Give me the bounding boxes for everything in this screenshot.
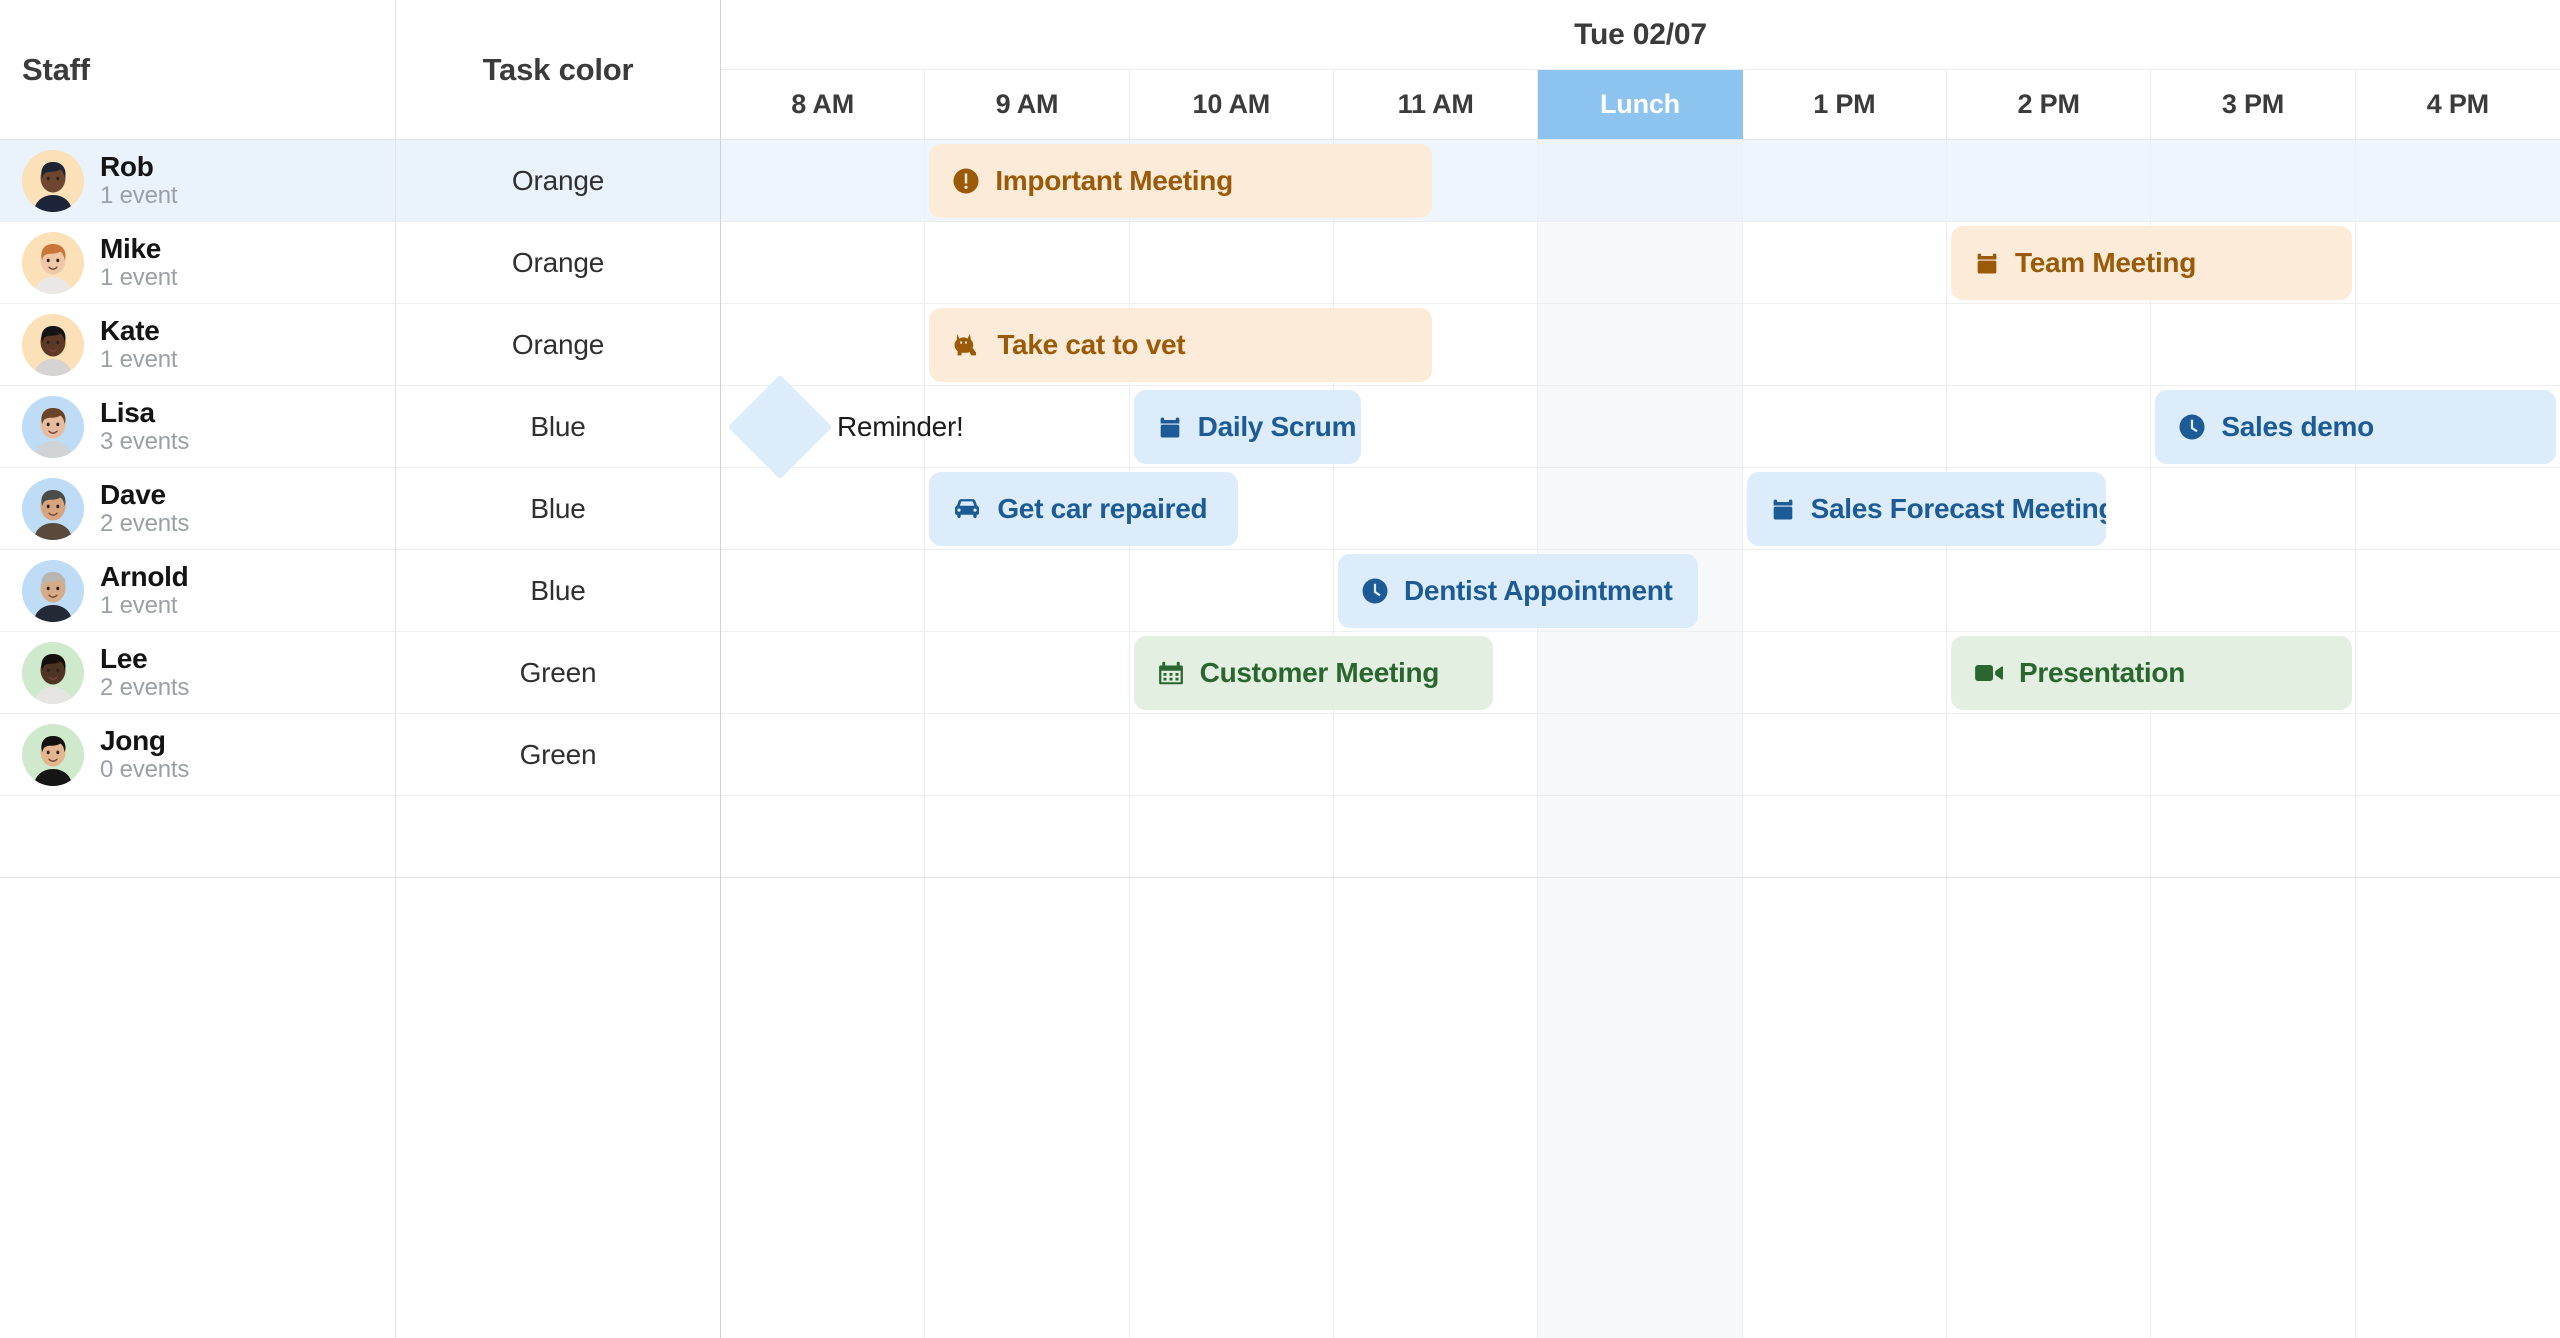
milestone-reminder[interactable]: Reminder! xyxy=(743,390,963,464)
staff-name: Mike xyxy=(100,234,177,263)
staff-name: Arnold xyxy=(100,562,188,591)
task-color-cell-jong[interactable]: Green xyxy=(396,714,720,796)
calendar-icon xyxy=(1156,412,1184,442)
staff-event-count: 1 event xyxy=(100,593,188,619)
car-icon xyxy=(951,495,983,523)
event-title: Presentation xyxy=(2019,657,2185,689)
staff-event-count: 3 events xyxy=(100,429,189,455)
time-slot-10-am[interactable]: 10 AM xyxy=(1130,70,1334,139)
time-slot-4-pm[interactable]: 4 PM xyxy=(2356,70,2560,139)
time-slot-2-pm[interactable]: 2 PM xyxy=(1947,70,2151,139)
staff-info: Arnold1 event xyxy=(100,562,188,620)
date-header-label: Tue 02/07 xyxy=(1574,18,1707,52)
avatar-rob xyxy=(22,150,84,212)
avatar-mike xyxy=(22,232,84,294)
time-slot-9-am[interactable]: 9 AM xyxy=(925,70,1129,139)
time-slot-label: 11 AM xyxy=(1398,89,1474,120)
staff-name: Dave xyxy=(100,480,189,509)
staff-row-rob[interactable]: Rob1 event xyxy=(0,140,395,222)
staff-row-lee[interactable]: Lee2 events xyxy=(0,632,395,714)
task-color-column: OrangeOrangeOrangeBlueBlueBlueGreenGreen xyxy=(396,140,721,1338)
avatar-lisa xyxy=(22,396,84,458)
staff-name: Rob xyxy=(100,152,177,181)
event-chip-sales-forecast-meeting[interactable]: Sales Forecast Meeting xyxy=(1747,472,2107,546)
task-color-label: Orange xyxy=(512,329,604,361)
diamond-milestone-icon xyxy=(728,375,833,480)
event-title: Important Meeting xyxy=(995,165,1233,197)
staff-event-count: 2 events xyxy=(100,511,189,537)
event-chip-customer-meeting[interactable]: Customer Meeting xyxy=(1134,636,1494,710)
staff-event-count: 1 event xyxy=(100,183,177,209)
time-slot-3-pm[interactable]: 3 PM xyxy=(2151,70,2355,139)
video-camera-icon xyxy=(1973,660,2005,686)
calendar-grid-icon xyxy=(1156,658,1186,688)
event-chip-team-meeting[interactable]: Team Meeting xyxy=(1951,226,2352,300)
alert-circle-icon xyxy=(951,166,981,196)
staff-name: Lisa xyxy=(100,398,189,427)
staff-row-mike[interactable]: Mike1 event xyxy=(0,222,395,304)
task-color-cell-rob[interactable]: Orange xyxy=(396,140,720,222)
calendar-icon xyxy=(1769,494,1797,524)
staff-column: Rob1 eventMike1 eventKate1 eventLisa3 ev… xyxy=(0,140,396,1338)
event-chip-presentation[interactable]: Presentation xyxy=(1951,636,2352,710)
task-color-label: Blue xyxy=(530,493,585,525)
time-slot-label: 1 PM xyxy=(1813,89,1875,120)
staff-info: Lee2 events xyxy=(100,644,189,702)
event-title: Daily Scrum xyxy=(1198,411,1357,443)
time-slot-label: 10 AM xyxy=(1193,89,1271,120)
avatar-arnold xyxy=(22,560,84,622)
clock-icon xyxy=(2177,412,2207,442)
event-title: Sales demo xyxy=(2221,411,2374,443)
staff-info: Mike1 event xyxy=(100,234,177,292)
event-title: Get car repaired xyxy=(997,493,1207,525)
avatar-jong xyxy=(22,724,84,786)
staff-name: Lee xyxy=(100,644,189,673)
task-color-cell-lisa[interactable]: Blue xyxy=(396,386,720,468)
time-slot-label: 9 AM xyxy=(996,89,1059,120)
event-chip-important-meeting[interactable]: Important Meeting xyxy=(929,144,1432,218)
event-title: Team Meeting xyxy=(2015,247,2196,279)
staff-column-header-label: Staff xyxy=(22,52,90,88)
avatar-dave xyxy=(22,478,84,540)
task-color-cell-dave[interactable]: Blue xyxy=(396,468,720,550)
staff-row-jong[interactable]: Jong0 events xyxy=(0,714,395,796)
staff-name: Jong xyxy=(100,726,189,755)
task-color-label: Orange xyxy=(512,247,604,279)
staff-info: Jong0 events xyxy=(100,726,189,784)
date-header: Tue 02/07 xyxy=(721,0,2560,70)
timeline-body[interactable]: Important MeetingTeam MeetingTake cat to… xyxy=(721,140,2560,1338)
staff-row-arnold[interactable]: Arnold1 event xyxy=(0,550,395,632)
calendar-icon xyxy=(1973,248,2001,278)
avatar-kate xyxy=(22,314,84,376)
cat-icon xyxy=(951,331,983,359)
task-color-label: Green xyxy=(520,739,597,771)
staff-event-count: 1 event xyxy=(100,265,177,291)
event-chip-get-car-repaired[interactable]: Get car repaired xyxy=(929,472,1238,546)
time-slot-8-am[interactable]: 8 AM xyxy=(721,70,925,139)
event-chip-sales-demo[interactable]: Sales demo xyxy=(2155,390,2556,464)
event-chip-take-cat-to-vet[interactable]: Take cat to vet xyxy=(929,308,1432,382)
task-color-label: Orange xyxy=(512,165,604,197)
task-color-cell-arnold[interactable]: Blue xyxy=(396,550,720,632)
time-slot-label: 8 AM xyxy=(791,89,854,120)
staff-column-header: Staff xyxy=(0,0,396,140)
staff-row-lisa[interactable]: Lisa3 events xyxy=(0,386,395,468)
time-slot-label: Lunch xyxy=(1600,89,1680,120)
staff-row-dave[interactable]: Dave2 events xyxy=(0,468,395,550)
time-slot-label: 4 PM xyxy=(2427,89,2489,120)
event-chip-dentist-appointment[interactable]: Dentist Appointment xyxy=(1338,554,1698,628)
task-color-cell-mike[interactable]: Orange xyxy=(396,222,720,304)
task-color-label: Green xyxy=(520,657,597,689)
time-slot-1-pm[interactable]: 1 PM xyxy=(1743,70,1947,139)
staff-info: Lisa3 events xyxy=(100,398,189,456)
task-color-cell-kate[interactable]: Orange xyxy=(396,304,720,386)
scheduler-timeline: Staff Task color Tue 02/07 8 AM9 AM10 AM… xyxy=(0,0,2560,1338)
milestone-label: Reminder! xyxy=(837,411,963,443)
events-layer[interactable]: Important MeetingTeam MeetingTake cat to… xyxy=(721,140,2560,1338)
time-axis-header: 8 AM9 AM10 AM11 AMLunch1 PM2 PM3 PM4 PM xyxy=(721,70,2560,140)
staff-info: Kate1 event xyxy=(100,316,177,374)
clock-icon xyxy=(1360,576,1390,606)
task-color-column-header: Task color xyxy=(396,0,721,140)
event-title: Take cat to vet xyxy=(997,329,1185,361)
staff-name: Kate xyxy=(100,316,177,345)
task-color-column-header-label: Task color xyxy=(483,52,634,88)
time-slot-11-am[interactable]: 11 AM xyxy=(1334,70,1538,139)
time-slot-lunch[interactable]: Lunch xyxy=(1538,70,1742,139)
time-slot-label: 2 PM xyxy=(2018,89,2080,120)
staff-event-count: 2 events xyxy=(100,675,189,701)
task-color-cell-empty xyxy=(396,796,720,878)
avatar-lee xyxy=(22,642,84,704)
event-title: Customer Meeting xyxy=(1200,657,1439,689)
staff-event-count: 0 events xyxy=(100,757,189,783)
staff-row-kate[interactable]: Kate1 event xyxy=(0,304,395,386)
task-color-label: Blue xyxy=(530,575,585,607)
event-title: Dentist Appointment xyxy=(1404,575,1673,607)
staff-event-count: 1 event xyxy=(100,347,177,373)
task-color-label: Blue xyxy=(530,411,585,443)
task-color-cell-lee[interactable]: Green xyxy=(396,632,720,714)
event-title: Sales Forecast Meeting xyxy=(1811,493,2107,525)
event-chip-daily-scrum[interactable]: Daily Scrum xyxy=(1134,390,1361,464)
staff-row-empty xyxy=(0,796,395,878)
staff-info: Dave2 events xyxy=(100,480,189,538)
staff-info: Rob1 event xyxy=(100,152,177,210)
time-slot-label: 3 PM xyxy=(2222,89,2284,120)
